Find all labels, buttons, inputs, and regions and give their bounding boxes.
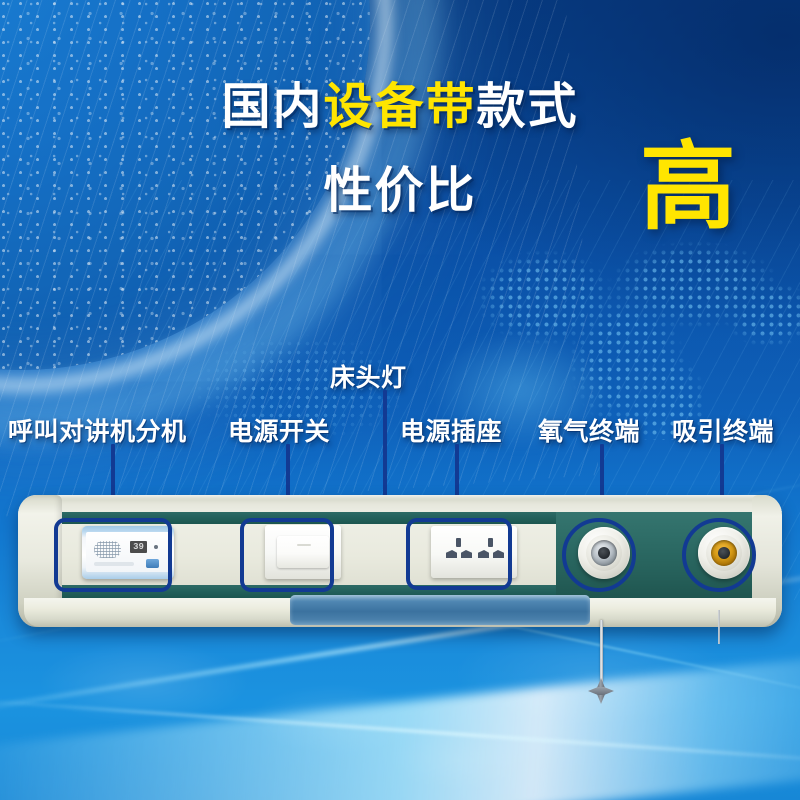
- callout-label-oxygen: 氧气终端: [538, 412, 640, 448]
- highlight-box-power-socket: [406, 518, 512, 590]
- callout-label-suction: 吸引终端: [672, 412, 774, 448]
- halftone-world-map: [470, 230, 800, 440]
- cord-pull-handle-icon[interactable]: [588, 678, 614, 704]
- promo-banner: 国内设备带款式 性价比 高 呼叫对讲机分机 床头灯 电源开关 电源插座 氧气终端…: [0, 0, 800, 800]
- callout-label-power-switch: 电源开关: [228, 412, 330, 448]
- highlight-box-power-switch: [240, 518, 334, 592]
- callout-label-bed-lamp: 床头灯: [330, 358, 407, 394]
- panel-blue-rail: [290, 595, 590, 625]
- highlight-box-suction: [682, 518, 756, 592]
- suction-pull-cord[interactable]: [718, 610, 720, 644]
- highlight-box-oxygen: [562, 518, 636, 592]
- oxygen-pull-cord[interactable]: [600, 620, 603, 682]
- callout-label-intercom: 呼叫对讲机分机: [8, 412, 187, 448]
- callout-label-power-socket: 电源插座: [400, 412, 502, 448]
- highlight-box-intercom: [54, 518, 172, 592]
- headline-big-word: 高: [640, 140, 736, 236]
